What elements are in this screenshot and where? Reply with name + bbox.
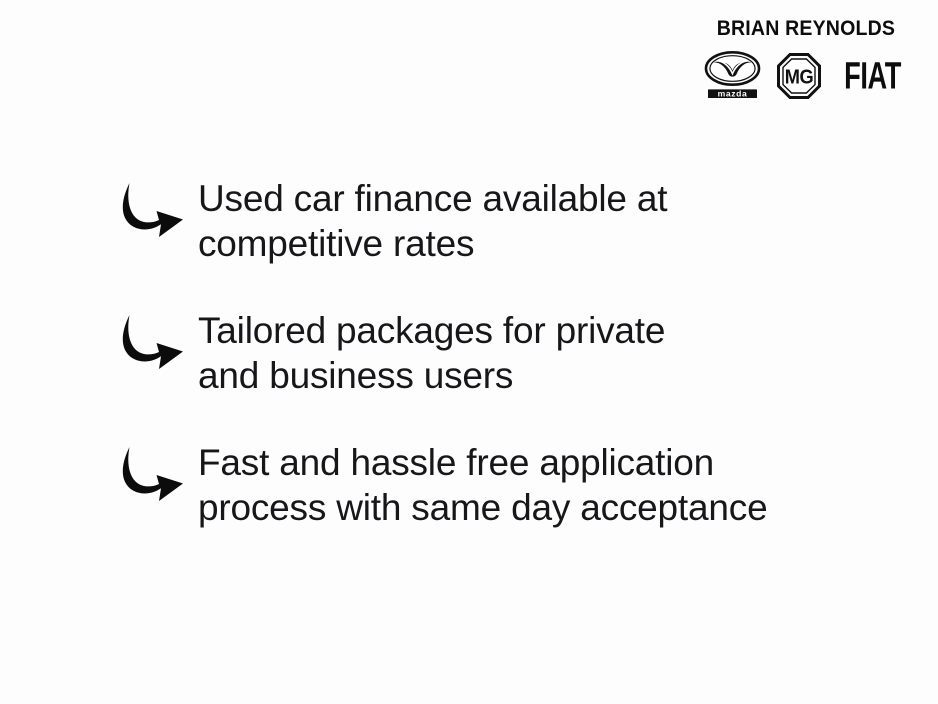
mazda-logo: mazda: [704, 51, 761, 99]
svg-text:MG: MG: [785, 66, 813, 89]
mg-logo: MG: [777, 53, 821, 99]
bullet-text: Tailored packages for private and busine…: [198, 308, 872, 398]
curved-arrow-icon: [112, 312, 186, 376]
dealer-branding: BRIAN REYNOLDS mazda MG FIAT: [706, 18, 906, 99]
svg-text:mazda: mazda: [718, 89, 748, 99]
feature-bullet-list: Used car finance available at competitiv…: [112, 176, 872, 530]
manufacturer-logo-row: mazda MG FIAT: [704, 49, 908, 99]
slide-canvas: BRIAN REYNOLDS mazda MG FIAT: [0, 0, 938, 704]
bullet-item: Tailored packages for private and busine…: [112, 308, 872, 398]
bullet-text: Fast and hassle free application process…: [198, 440, 872, 530]
bullet-text: Used car finance available at competitiv…: [198, 176, 872, 266]
curved-arrow-icon: [112, 444, 186, 508]
bullet-item: Fast and hassle free application process…: [112, 440, 872, 530]
dealer-name: BRIAN REYNOLDS: [717, 18, 895, 39]
fiat-logo: FIAT: [844, 57, 901, 95]
curved-arrow-icon: [112, 180, 186, 244]
bullet-item: Used car finance available at competitiv…: [112, 176, 872, 266]
